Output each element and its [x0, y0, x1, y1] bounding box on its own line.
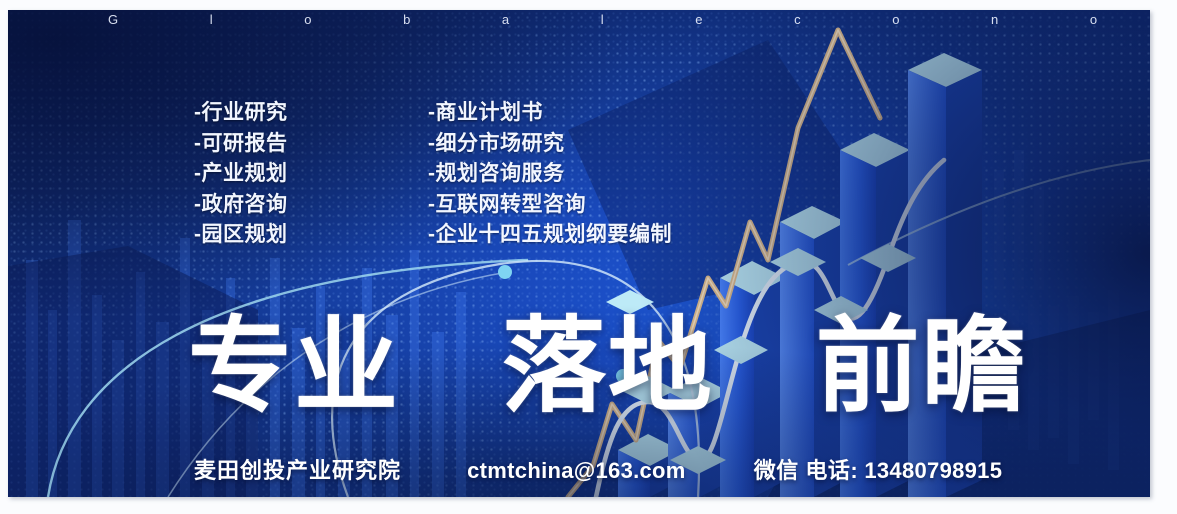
service-item: -互联网转型咨询 [428, 190, 672, 221]
service-item: -行业研究 [194, 98, 288, 129]
services-list-left: -行业研究 -可研报告 -产业规划 -政府咨询 -园区规划 [194, 98, 288, 251]
email-address[interactable]: ctmtchina@163.com [467, 458, 686, 483]
kicker-global-economy: G l o b a l e c o n o m y [68, 12, 1098, 38]
service-item: -企业十四五规划纲要编制 [428, 220, 672, 251]
service-item: -商业计划书 [428, 98, 672, 129]
headline-slogan: 专业 落地 前瞻 [188, 315, 1028, 419]
footer-contact-bar: 麦田创投产业研究院 ctmtchina@163.com 微信 电话: 13480… [194, 453, 1002, 485]
service-item: -政府咨询 [194, 190, 288, 221]
service-item: -可研报告 [194, 129, 288, 160]
phone-number[interactable]: 13480798915 [864, 458, 1002, 483]
contact-label: 微信 电话: [754, 458, 858, 483]
headline-word-1: 专业 [188, 315, 400, 419]
screenshot-canvas: G l o b a l e c o n o m y -行业研究 -可研报告 -产… [0, 0, 1177, 514]
services-list-right: -商业计划书 -细分市场研究 -规划咨询服务 -互联网转型咨询 -企业十四五规划… [428, 98, 672, 251]
org-name: 麦田创投产业研究院 [194, 458, 401, 483]
promo-banner: G l o b a l e c o n o m y -行业研究 -可研报告 -产… [8, 10, 1150, 497]
service-item: -规划咨询服务 [428, 159, 672, 190]
service-item: -细分市场研究 [428, 129, 672, 160]
headline-word-2: 落地 [502, 315, 714, 419]
headline-word-3: 前瞻 [816, 315, 1028, 419]
service-item: -园区规划 [194, 220, 288, 251]
service-item: -产业规划 [194, 159, 288, 190]
